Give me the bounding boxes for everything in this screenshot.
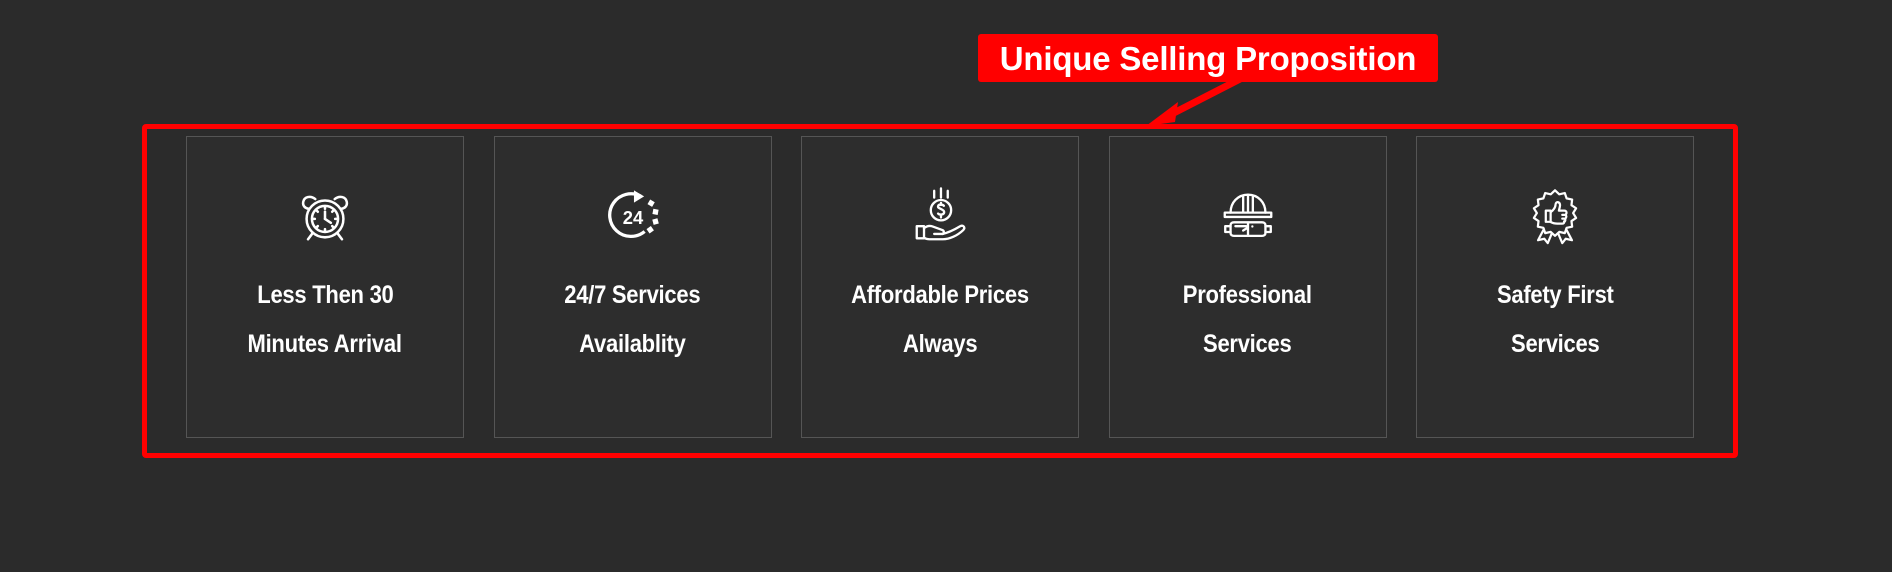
24-hour-icon-text: 24 (622, 207, 643, 228)
usp-card-title-line1: 24/7 Services (564, 283, 700, 308)
usp-card-affordable-prices[interactable]: Affordable Prices Always (801, 136, 1079, 438)
usp-card-title-line1: Safety First (1497, 283, 1614, 308)
usp-card-less-then-30[interactable]: Less Then 30 Minutes Arrival (186, 136, 464, 438)
usp-card-title-line2: Services (1511, 332, 1599, 357)
hard-hat-goggles-icon (1217, 185, 1279, 247)
usp-card-title-line2: Minutes Arrival (248, 332, 402, 357)
usp-card-title-line1: Professional (1183, 283, 1312, 308)
hand-holding-dollar-coin-icon (909, 185, 971, 247)
usp-card-24-7-services[interactable]: 24 24/7 Services Availablity (494, 136, 772, 438)
thumbs-up-badge-icon (1524, 185, 1586, 247)
usp-cards-row: Less Then 30 Minutes Arrival 24 24/7 Ser… (186, 136, 1694, 438)
usp-card-title-line2: Always (903, 332, 977, 357)
usp-card-professional-services[interactable]: Professional Services (1109, 136, 1387, 438)
usp-card-title-line1: Less Then 30 (257, 283, 393, 308)
24-hour-rotation-icon: 24 (602, 185, 664, 247)
usp-card-title-line1: Affordable Prices (851, 283, 1029, 308)
annotation-label-text: Unique Selling Proposition (1000, 42, 1416, 75)
usp-card-title-line2: Availablity (579, 332, 685, 357)
usp-card-safety-first[interactable]: Safety First Services (1416, 136, 1694, 438)
alarm-clock-icon (294, 185, 356, 247)
usp-card-title-line2: Services (1203, 332, 1291, 357)
annotation-label-box: Unique Selling Proposition (978, 34, 1438, 82)
arrow-down-left-icon (1130, 76, 1250, 130)
